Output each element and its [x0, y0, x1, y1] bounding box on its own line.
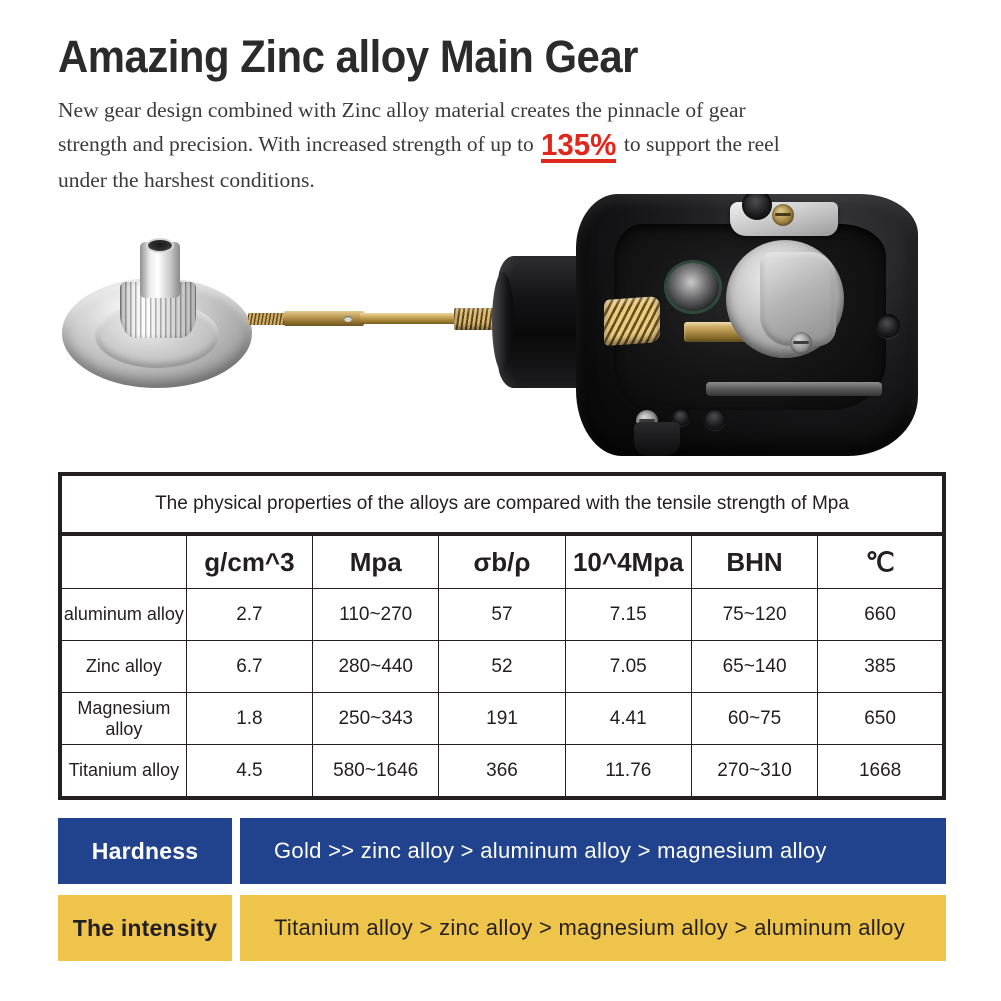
- zinc-alloy-gear-photo: [62, 240, 252, 390]
- table-row: Magnesium alloy 1.8 250~343 191 4.41 60~…: [60, 693, 944, 745]
- header-cell-sigma-ratio: σb/ρ: [439, 534, 565, 589]
- brass-worm-pinion: [604, 296, 660, 346]
- cell-titanium-density: 4.5: [186, 745, 312, 799]
- table-header-row: g/cm^3 Mpa σb/ρ 10^4Mpa BHN ℃: [60, 534, 944, 589]
- cell-magnesium-density: 1.8: [186, 693, 312, 745]
- product-photo-stage: [0, 188, 1001, 466]
- ball-bearing: [664, 260, 722, 314]
- header-cell-blank: [60, 534, 186, 589]
- table-row: aluminum alloy 2.7 110~270 57 7.15 75~12…: [60, 589, 944, 641]
- hardness-banner-label: Hardness: [58, 818, 232, 884]
- cell-magnesium-modulus: 4.41: [565, 693, 691, 745]
- reel-gearbox-photo: [498, 194, 918, 456]
- housing-hole: [704, 408, 726, 430]
- cell-aluminum-sigma: 57: [439, 589, 565, 641]
- cell-titanium-celsius: 1668: [818, 745, 944, 799]
- intensity-banner-content: Titanium alloy > zinc alloy > magnesium …: [240, 895, 946, 961]
- cell-zinc-mpa: 280~440: [313, 641, 439, 693]
- intensity-banner: The intensity Titanium alloy > zinc allo…: [58, 895, 946, 961]
- brass-screw-icon: [772, 204, 794, 226]
- shaft-thread-left: [248, 313, 288, 325]
- brass-drive-shaft: [248, 308, 504, 328]
- cell-titanium-modulus: 11.76: [565, 745, 691, 799]
- row-label-zinc: Zinc alloy: [60, 641, 186, 693]
- cell-titanium-bhn: 270~310: [691, 745, 817, 799]
- cell-magnesium-sigma: 191: [439, 693, 565, 745]
- row-label-magnesium: Magnesium alloy: [60, 693, 186, 745]
- cell-aluminum-celsius: 660: [818, 589, 944, 641]
- table-row: Zinc alloy 6.7 280~440 52 7.05 65~140 38…: [60, 641, 944, 693]
- cell-zinc-bhn: 65~140: [691, 641, 817, 693]
- hardness-banner: Hardness Gold >> zinc alloy > aluminum a…: [58, 818, 946, 884]
- header-cell-mpa: Mpa: [313, 534, 439, 589]
- steel-screw-icon: [790, 332, 812, 354]
- row-label-titanium: Titanium alloy: [60, 745, 186, 799]
- table-caption: The physical properties of the alloys ar…: [60, 474, 944, 534]
- cell-zinc-modulus: 7.05: [565, 641, 691, 693]
- cell-aluminum-bhn: 75~120: [691, 589, 817, 641]
- cell-magnesium-mpa: 250~343: [313, 693, 439, 745]
- row-label-aluminum: aluminum alloy: [60, 589, 186, 641]
- housing-hole: [876, 314, 900, 338]
- banner-divider: [232, 895, 240, 961]
- housing-foot: [634, 422, 680, 456]
- reel-housing: [576, 194, 918, 456]
- cell-aluminum-density: 2.7: [186, 589, 312, 641]
- shaft-cross-hole: [344, 316, 352, 322]
- cell-magnesium-celsius: 650: [818, 693, 944, 745]
- cell-magnesium-bhn: 60~75: [691, 693, 817, 745]
- alloy-properties-table: The physical properties of the alloys ar…: [58, 472, 946, 800]
- table-row: Titanium alloy 4.5 580~1646 366 11.76 27…: [60, 745, 944, 799]
- header-cell-density: g/cm^3: [186, 534, 312, 589]
- header-cell-modulus: 10^4Mpa: [565, 534, 691, 589]
- hardness-banner-content: Gold >> zinc alloy > aluminum alloy > ma…: [240, 818, 946, 884]
- cell-titanium-sigma: 366: [439, 745, 565, 799]
- banner-divider: [232, 818, 240, 884]
- cell-aluminum-mpa: 110~270: [313, 589, 439, 641]
- table-caption-row: The physical properties of the alloys ar…: [60, 474, 944, 534]
- strength-highlight: 135%: [541, 132, 616, 163]
- headline-block: Amazing Zinc alloy Main Gear New gear de…: [58, 30, 958, 197]
- shaft-flat-section: [284, 311, 364, 326]
- header-cell-bhn: BHN: [691, 534, 817, 589]
- cell-zinc-sigma: 52: [439, 641, 565, 693]
- intensity-banner-label: The intensity: [58, 895, 232, 961]
- page-description: New gear design combined with Zinc alloy…: [58, 93, 818, 197]
- cell-titanium-mpa: 580~1646: [313, 745, 439, 799]
- cell-aluminum-modulus: 7.15: [565, 589, 691, 641]
- page-title: Amazing Zinc alloy Main Gear: [58, 30, 895, 84]
- gear-bore: [146, 238, 174, 253]
- cell-zinc-density: 6.7: [186, 641, 312, 693]
- slider-rail: [706, 382, 882, 396]
- header-cell-celsius: ℃: [818, 534, 944, 589]
- cell-zinc-celsius: 385: [818, 641, 944, 693]
